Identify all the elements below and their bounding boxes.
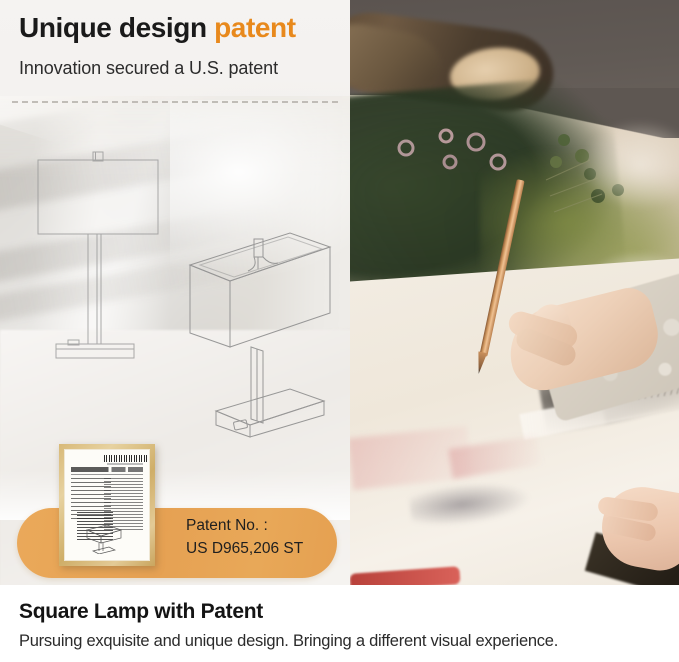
patent-number-text: Patent No. : US D965,206 ST [186, 514, 336, 560]
patent-certificate-frame [59, 444, 155, 566]
lamp-front-elevation-line-drawing [18, 140, 188, 370]
dashed-divider [12, 101, 338, 103]
left-panel: Unique design patent Innovation secured … [0, 0, 350, 585]
product-feature-card: Unique design patent Innovation secured … [0, 0, 679, 662]
patent-figure-drawing [81, 522, 129, 554]
patent-certificate-page [64, 449, 150, 561]
page-title: Unique design patent [19, 12, 296, 44]
patent-number-label: Patent No. : [186, 514, 336, 537]
caption-subtitle: Pursuing exquisite and unique design. Br… [19, 632, 558, 651]
caption-section: Square Lamp with Patent Pursuing exquisi… [0, 585, 679, 662]
lifestyle-photo [350, 0, 679, 585]
barcode-icon [104, 455, 148, 462]
patent-number-value: US D965,206 ST [186, 537, 336, 560]
page-title-main: Unique design [19, 12, 214, 43]
hero-section: Unique design patent Innovation secured … [0, 0, 679, 585]
lamp-isometric-line-drawing [178, 225, 343, 455]
page-subtitle: Innovation secured a U.S. patent [19, 58, 278, 79]
caption-title: Square Lamp with Patent [19, 600, 263, 624]
page-title-accent: patent [214, 12, 296, 43]
